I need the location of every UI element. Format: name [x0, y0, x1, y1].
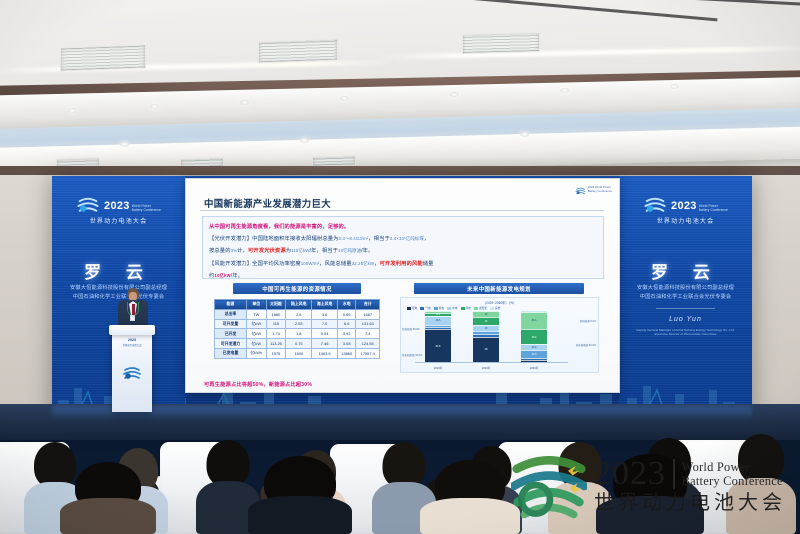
cell: 2.53 [286, 319, 312, 329]
speaker-lanyard [127, 302, 139, 316]
audience-person-foreground [420, 460, 520, 534]
chart-annotation-nonfossil-2060: 非化石能源 92.0% [576, 344, 596, 347]
cell: 1687 [356, 309, 380, 319]
col-header: 能源 [215, 300, 247, 310]
air-vent-icon [312, 155, 356, 166]
slide-logo-text: 2023 World Power Battery Conference [588, 186, 612, 193]
podium-logo-cn: 世界动力电池大会 [112, 343, 152, 347]
table-row: 已开发 亿kW 1.74 1.8 0.04 3.92 7.4 [215, 329, 380, 339]
table-caption: 中国可再生能源的资源情况 [233, 283, 361, 294]
shoulders [248, 496, 352, 534]
bar-segment-hydro: 13 [473, 325, 499, 332]
event-watermark: 2023 World Power Battery Conference 世界动力… [511, 448, 786, 524]
slide-logo: 2023 World Power Battery Conference [575, 184, 612, 195]
chart-caption: 未来中国新能源发电规划 [414, 283, 584, 294]
cell: 亿kW [246, 339, 266, 349]
watermark-name-cn: 世界动力电池大会 [594, 493, 786, 514]
banner-event-name-cn: 世界动力电池大会 [619, 216, 752, 225]
podium-logo-year: 2023 [112, 338, 152, 342]
swoosh-globe-icon [575, 184, 586, 195]
wall-trim-strip [0, 166, 800, 175]
legend-item: 煤电 [407, 306, 417, 310]
banner-year: 2023 [671, 201, 697, 212]
cell: 可开发潜力 [215, 339, 247, 349]
cell: 3.6 [312, 309, 338, 319]
slide-body-line-2: 【光伏开发潜力】中国陆地面积年接收太阳辐射总量为3.3～8.4GJ/m²，相当于… [209, 233, 597, 245]
cell: 0.89 [338, 309, 356, 319]
cell: 总出率 [215, 309, 247, 319]
banner-speaker-name-cn: 罗 云 [52, 258, 185, 283]
audience-person-foreground [248, 456, 352, 534]
col-header: 单位 [246, 300, 266, 310]
air-vent-icon [60, 44, 146, 71]
cell: 131.63 [356, 319, 380, 329]
watermark-text: 2023 World Power Battery Conference 世界动力… [594, 458, 786, 513]
cell: 113.26 [266, 339, 286, 349]
head [207, 440, 250, 487]
banner-event-name-en: World Power Battery Conference [699, 204, 728, 212]
slide-title-divider [200, 210, 604, 211]
cell: 124.55 [356, 339, 380, 349]
audience-person-foreground [60, 462, 156, 534]
chart-annotation-fossil-2060: 化石能源 8.0% [580, 320, 596, 323]
slide-body-line-3: 按总量的3%计，可开发光伏资源为115亿kW/年，相当于10亿吨原油/年。 [209, 245, 597, 257]
cell: TW [246, 309, 266, 319]
podium-top-surface [109, 325, 155, 335]
banner-event-name-en: World Power Battery Conference [132, 204, 161, 212]
cell: 可开发量 [215, 319, 247, 329]
banner-logo: 2023 World Power Battery Conference [619, 194, 752, 218]
bar-segment-hydro: 16.5 [425, 316, 451, 325]
shoulders [60, 498, 156, 534]
watermark-year: 2023 [594, 458, 666, 490]
banner-logo: 2023 World Power Battery Conference [52, 194, 185, 218]
banner-speaker-title: 安徽大恒能源科技股份有限公司副总经理 中国石油和化学工业联合会光伏专委会 [619, 284, 752, 301]
slide-body-line-4: 【风能开发潜力】全国平均风功率密度100W/m²，风能总储量32.26亿kW，可… [209, 258, 597, 270]
conference-photo: 2023 World Power Battery Conference 世界动力… [0, 0, 800, 534]
table-header-row: 能源 单位 太阳能 陆上风电 海上风电 水电 合计 [215, 300, 380, 310]
resource-table: 能源 单位 太阳能 陆上风电 海上风电 水电 合计 总出率 TW 1680 2.… [214, 299, 380, 359]
swoosh-globe-icon [511, 448, 587, 524]
cell: 1680 [266, 309, 286, 319]
col-header: 太阳能 [266, 300, 286, 310]
cell: 3.08 [338, 339, 356, 349]
swoosh-globe-icon [76, 194, 100, 218]
cell: 7.4 [356, 329, 380, 339]
banner-event-name-cn: 世界动力电池大会 [52, 216, 185, 225]
col-header: 合计 [356, 300, 380, 310]
col-header: 水电 [338, 300, 356, 310]
cell: 1.74 [266, 329, 286, 339]
cell: 6.6 [338, 319, 356, 329]
cell: 3.92 [338, 329, 356, 339]
watermark-divider [673, 459, 675, 489]
bar-segment-wind: 28.4 [521, 329, 547, 344]
shoulders [420, 498, 520, 534]
banner-speaker-name-en: Luo Yun [619, 316, 752, 323]
slide-body-textbox: 从中国可再生能源角度看，我们的能源是丰富的，足够的。 【光伏开发潜力】中国陆地面… [202, 216, 604, 279]
watermark-row: 2023 World Power Battery Conference [594, 458, 786, 490]
speaker-badge [130, 315, 135, 321]
col-header: 陆上风电 [286, 300, 312, 310]
cell: 1.8 [286, 329, 312, 339]
swoosh-globe-icon [643, 194, 667, 218]
table-row: 可开发潜力 亿kW 113.26 0.75 7.46 3.08 124.55 [215, 339, 380, 349]
bar-segment-solar: 33.4 [521, 312, 547, 329]
cell: 2.6 [286, 309, 312, 319]
cell: 115 [266, 319, 286, 329]
bar-segment-wind: 14 [473, 317, 499, 324]
slide-body-line-1: 从中国可再生能源角度看，我们的能源是丰富的，足够的。 [209, 221, 597, 233]
banner-speaker-name-cn: 罗 云 [619, 258, 752, 283]
air-vent-icon [258, 39, 338, 64]
table-row: 可开发量 亿kW 115 2.53 7.5 6.6 131.63 [215, 319, 380, 329]
slide-title: 中国新能源产业发展潜力巨大 [204, 196, 331, 210]
col-header: 海上风电 [312, 300, 338, 310]
cell: 0.75 [286, 339, 312, 349]
banner-speaker-org-en: Deputy General Manager of Anhui Daheng E… [619, 328, 752, 337]
cell: 亿kW [246, 329, 266, 339]
ceiling-track-rail [388, 0, 717, 21]
cell: 7.5 [312, 319, 338, 329]
slide-body-line-5: 约10亿kW/年。 [209, 270, 597, 282]
air-vent-icon [462, 32, 540, 54]
cell: 7.46 [312, 339, 338, 349]
table-row: 总出率 TW 1680 2.6 3.6 0.89 1687 [215, 309, 380, 319]
chart-annotation-fossil-2020: 化石能源 68.0% [402, 328, 420, 331]
ceiling-track-rail [610, 0, 800, 6]
cell: 亿kW [246, 319, 266, 329]
cell: 0.04 [312, 329, 338, 339]
chart-subtitle: （2020~2060年）（%） [401, 300, 598, 305]
legend-item: 风电 [461, 306, 471, 310]
banner-year: 2023 [104, 201, 130, 212]
banner-divider [656, 308, 715, 309]
cell: 已开发 [215, 329, 247, 339]
ceiling [0, 0, 800, 176]
watermark-name-en: World Power Battery Conference [682, 460, 783, 490]
